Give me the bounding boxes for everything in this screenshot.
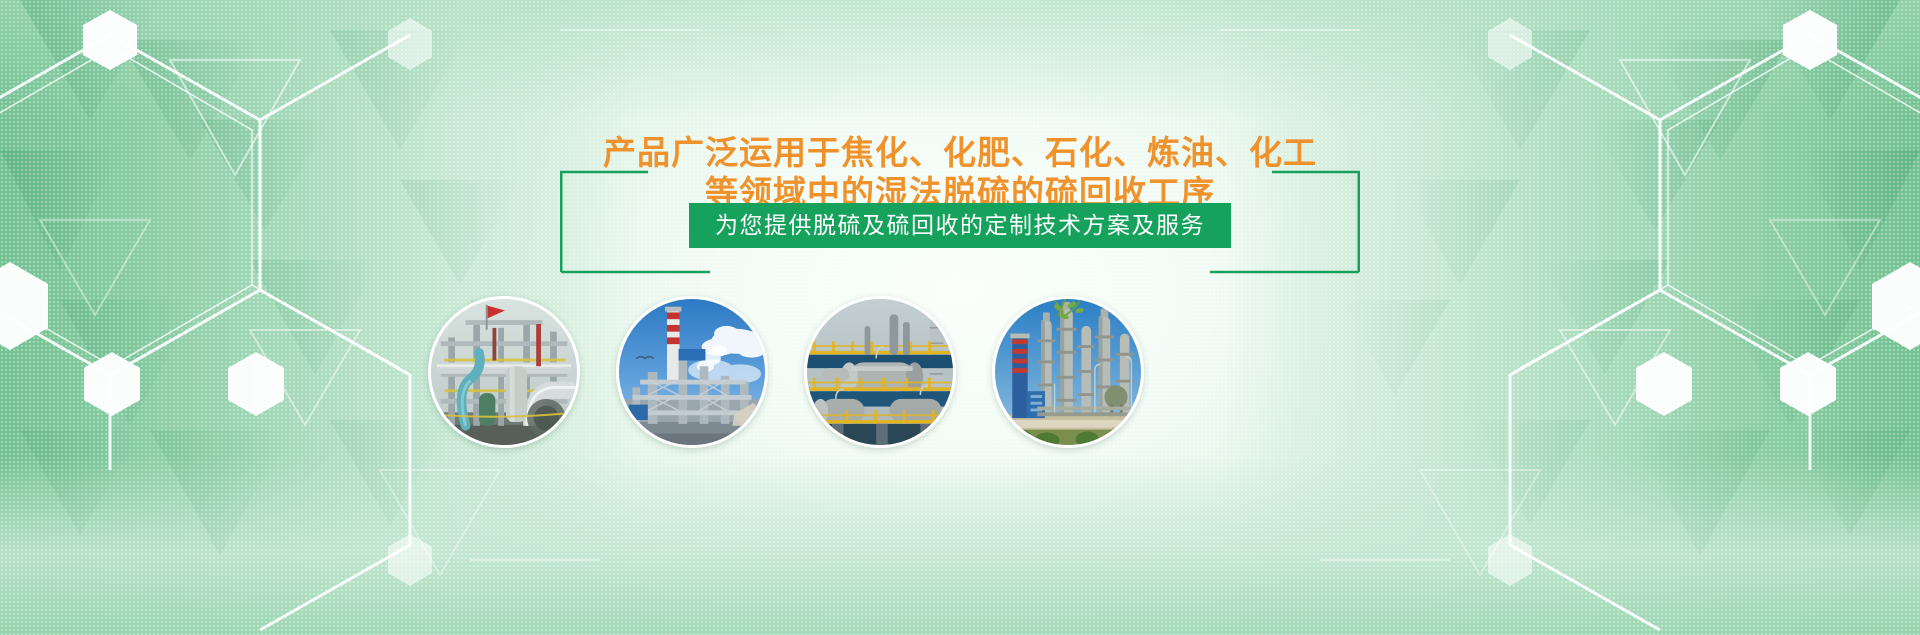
headline-line-1: 产品广泛运用于焦化、化肥、石化、炼油、化工 — [0, 133, 1920, 173]
photo-sulfur-recovery-tanks[interactable] — [804, 296, 956, 448]
hero-banner: 产品广泛运用于焦化、化肥、石化、炼油、化工 等领域中的湿法脱硫的硫回收工序 为您… — [0, 0, 1920, 635]
headline: 产品广泛运用于焦化、化肥、石化、炼油、化工 等领域中的湿法脱硫的硫回收工序 — [0, 133, 1920, 213]
photo-desulfurization-piping-plant[interactable] — [428, 296, 580, 448]
subtitle-bar: 为您提供脱硫及硫回收的定制技术方案及服务 — [689, 203, 1231, 248]
photo-power-plant-chimney-image — [619, 299, 765, 445]
photo-refinery-distillation-columns-image — [995, 299, 1141, 445]
photo-desulfurization-piping-plant-image — [431, 299, 577, 445]
photo-circle-row — [0, 296, 1920, 448]
banner-content: 产品广泛运用于焦化、化肥、石化、炼油、化工 等领域中的湿法脱硫的硫回收工序 为您… — [0, 0, 1920, 635]
photo-power-plant-chimney[interactable] — [616, 296, 768, 448]
photo-sulfur-recovery-tanks-image — [807, 299, 953, 445]
photo-refinery-distillation-columns[interactable] — [992, 296, 1144, 448]
